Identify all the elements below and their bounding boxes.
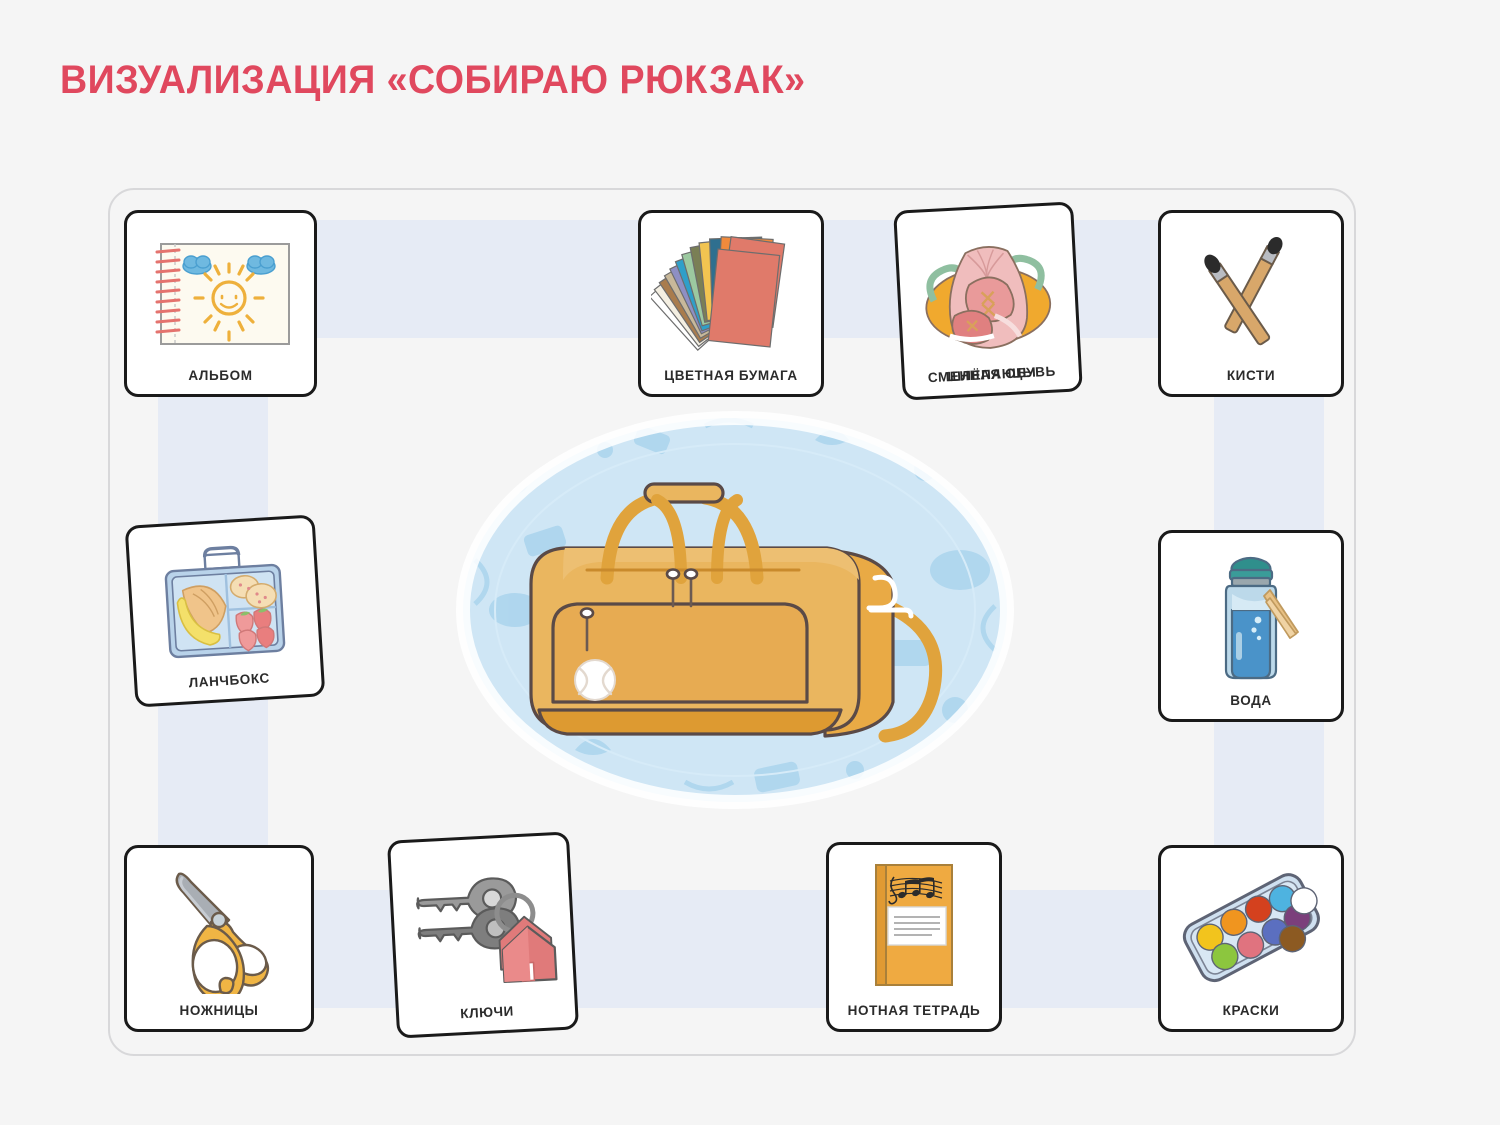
card-paints[interactable]: КРАСКИ	[1158, 845, 1344, 1032]
card-water[interactable]: ВОДА	[1158, 530, 1344, 722]
card-music-book[interactable]: НОТНАЯ ТЕТРАДЬ	[826, 842, 1002, 1032]
decor-band-bottom	[160, 890, 1320, 1008]
music-notebook-icon	[829, 845, 999, 1004]
sketchbook-icon	[127, 213, 314, 369]
card-colored-paper[interactable]: ЦВЕТНАЯ БУМАГА	[638, 210, 824, 397]
colored-paper-icon	[641, 213, 821, 369]
card-scissors[interactable]: НОЖНИЦЫ	[124, 845, 314, 1032]
shoe-bag-icon	[896, 205, 1078, 372]
card-keys[interactable]: КЛЮЧИ	[387, 831, 579, 1038]
card-label: НОЖНИЦЫ	[127, 1004, 311, 1030]
card-label: ВОДА	[1161, 694, 1341, 720]
card-brushes[interactable]: КИСТИ	[1158, 210, 1344, 397]
board-frame: АЛЬБОМ	[108, 188, 1356, 1056]
card-spare-shoes[interactable]: СМЕННАЯ ОБУВЬ ШЛЁПАНЦЫ	[893, 201, 1083, 400]
card-lunchbox[interactable]: ЛАНЧБОКС	[125, 514, 326, 707]
page-title: ВИЗУАЛИЗАЦИЯ «СОБИРАЮ РЮКЗАК»	[60, 58, 806, 103]
keys-icon	[390, 835, 574, 1010]
scissors-icon	[127, 848, 311, 1004]
lunchbox-icon	[128, 518, 321, 679]
duffel-bag-icon	[495, 458, 985, 768]
card-label: ЦВЕТНАЯ БУМАГА	[641, 369, 821, 395]
card-label: АЛЬБОМ	[127, 369, 314, 395]
card-label: НОТНАЯ ТЕТРАДЬ	[829, 1004, 999, 1030]
card-album[interactable]: АЛЬБОМ	[124, 210, 317, 397]
paint-palette-icon	[1161, 848, 1341, 1004]
paint-brushes-icon	[1161, 213, 1341, 369]
water-bottle-icon	[1161, 533, 1341, 694]
card-label: КИСТИ	[1161, 369, 1341, 395]
center-bag-illustration	[455, 410, 1015, 810]
card-label: КРАСКИ	[1161, 1004, 1341, 1030]
